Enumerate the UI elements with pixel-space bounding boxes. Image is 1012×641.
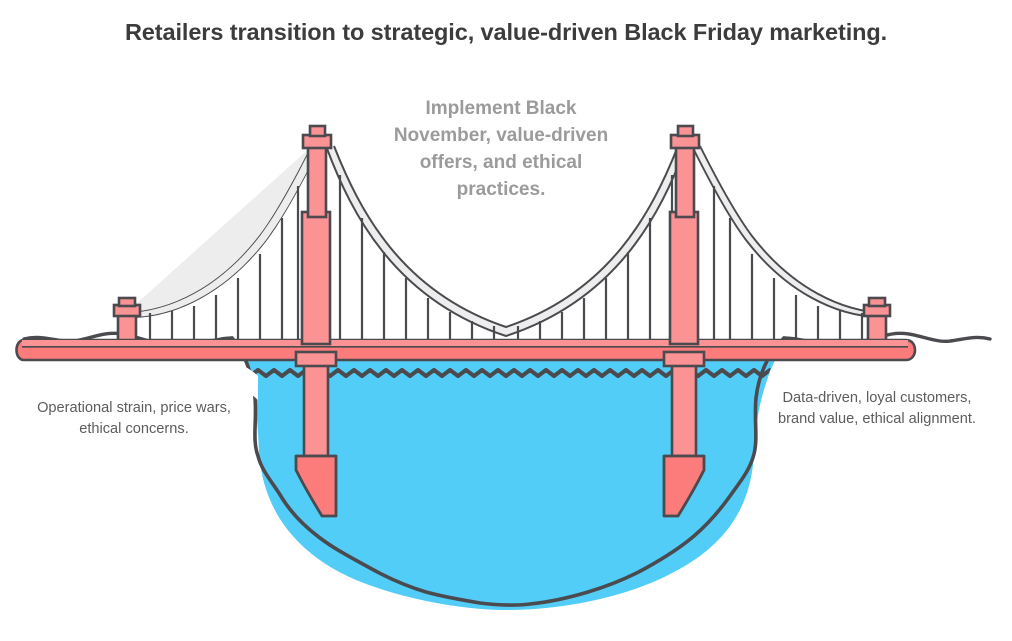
span-label: Implement Black November, value-driven o… [386, 96, 616, 204]
left-bank-label: Operational strain, price wars, ethical … [22, 398, 246, 439]
cable-right-side-span-bottom [694, 150, 879, 317]
tower-right-underwater-shaft [672, 360, 696, 456]
tower-right-lower-shaft [670, 212, 698, 344]
tower-right-collar [664, 352, 704, 366]
tower-left-underwater-shaft [304, 360, 328, 456]
tower-left-finial [310, 126, 325, 136]
cable-left-side-span [126, 146, 312, 313]
cable-right-side-span-fill [694, 146, 886, 317]
tower-left-upper-shaft [308, 145, 326, 217]
bridge-deck [17, 340, 916, 360]
cable-right-side-span-top [700, 146, 886, 313]
page-title: Retailers transition to strategic, value… [0, 18, 1012, 47]
deck-upper-strip [22, 340, 908, 346]
diagram-canvas: Retailers transition to strategic, value… [0, 0, 1012, 641]
tower-left-lower-shaft [302, 212, 330, 344]
tower-left-collar [296, 352, 336, 366]
tower-left [296, 126, 336, 516]
right-bank-label: Data-driven, loyal customers, brand valu… [765, 388, 989, 429]
tower-right-upper-shaft [676, 145, 694, 217]
tower-right-finial [678, 126, 693, 136]
